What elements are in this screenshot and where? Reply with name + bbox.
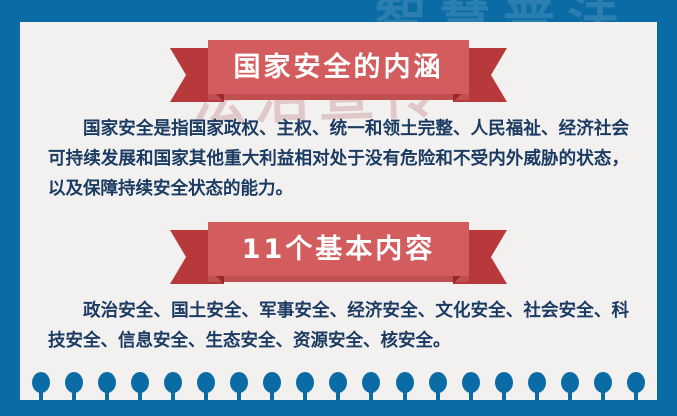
balloon-dot-stem [436,390,440,402]
balloon-dot-icon [164,372,182,402]
balloon-dot-stem [72,390,76,402]
balloon-dot-stem [601,390,605,402]
footer-bar [20,402,657,416]
section-title-1: 国家安全的内涵 [234,54,444,81]
section-body-2: 政治安全、国土安全、军事安全、经济安全、文化安全、社会安全、科技安全、信息安全、… [48,296,629,356]
balloon-dot-icon [528,372,546,402]
balloon-dot-icon [627,372,645,402]
balloon-dot-icon [230,372,248,402]
poster-root: 智慧普法 法治宣传 国家安全的内涵 国家安全是指国家政权、主权、统一和领土完整、… [0,0,677,416]
balloon-dot-stem [535,390,539,402]
section-title-2: 11个基本内容 [242,236,436,263]
balloon-dot-stem [270,390,274,402]
balloon-dot-icon [131,372,149,402]
section-body-1: 国家安全是指国家政权、主权、统一和领土完整、人民福祉、经济社会可持续发展和国家其… [48,114,629,204]
ribbon-banner-2: 11个基本内容 [20,222,657,284]
balloon-dot-stem [204,390,208,402]
balloon-dot-icon [65,372,83,402]
ribbon-body-2: 11个基本内容 [208,222,469,276]
balloon-dot-stem [138,390,142,402]
balloon-dot-icon [396,372,414,402]
balloon-dot-stem [568,390,572,402]
ribbon-banner-1: 国家安全的内涵 [20,40,657,102]
balloon-dot-icon [296,372,314,402]
balloon-dot-stem [369,390,373,402]
balloon-dot-icon [495,372,513,402]
balloon-dot-icon [98,372,116,402]
content-panel: 法治宣传 国家安全的内涵 国家安全是指国家政权、主权、统一和领土完整、人民福祉、… [20,22,657,400]
ribbon-shade-1 [208,94,469,100]
balloon-dot-stem [237,390,241,402]
balloon-dot-stem [336,390,340,402]
balloon-dot-icon [462,372,480,402]
ribbon-body-1: 国家安全的内涵 [208,40,469,94]
balloon-dot-icon [362,372,380,402]
balloon-dot-icon [197,372,215,402]
balloon-dot-stem [105,390,109,402]
balloon-dot-icon [329,372,347,402]
balloon-dot-stem [39,390,43,402]
balloon-dot-row [20,368,657,402]
balloon-dot-icon [429,372,447,402]
balloon-dot-icon [32,372,50,402]
balloon-dot-stem [403,390,407,402]
footer-decoration [20,368,657,416]
ribbon-shade-2 [208,276,469,282]
balloon-dot-icon [561,372,579,402]
balloon-dot-stem [502,390,506,402]
balloon-dot-stem [634,390,638,402]
balloon-dot-stem [469,390,473,402]
balloon-dot-stem [303,390,307,402]
balloon-dot-icon [594,372,612,402]
balloon-dot-icon [263,372,281,402]
balloon-dot-stem [171,390,175,402]
